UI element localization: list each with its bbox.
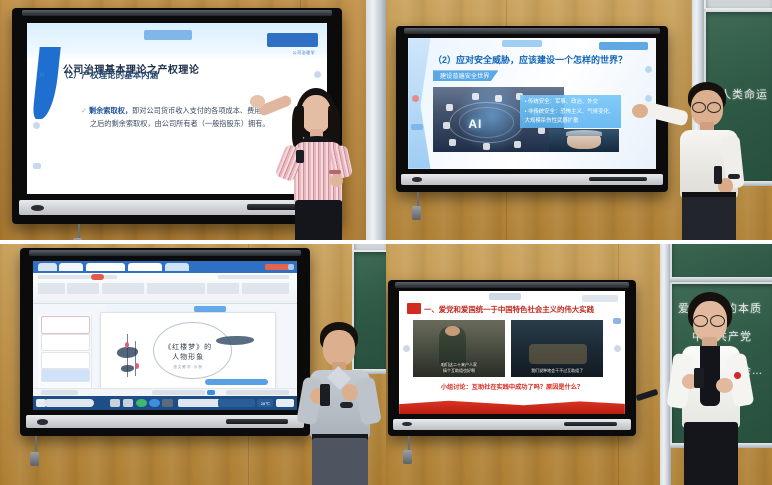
lamp-glow	[529, 344, 586, 363]
icon-node	[538, 127, 545, 134]
chalkboard-upper	[670, 244, 772, 280]
wristwatch	[340, 402, 353, 408]
account-badge[interactable]	[265, 264, 289, 270]
tool-group-3[interactable]	[102, 283, 144, 294]
slide-security-world: （2）应对安全威胁，应该建设一个怎样的世界？ 建设普遍安全世界 AI	[408, 38, 656, 169]
top-chip	[144, 30, 192, 40]
app-icon-blue[interactable]	[149, 399, 160, 407]
power-plug	[30, 452, 39, 466]
party-emblem-icon	[407, 303, 421, 314]
decorative-corner	[408, 38, 430, 169]
glasses-right-lens	[707, 102, 721, 113]
slide-title: 一、爱党和爱国统一于中国特色社会主义的伟大实践	[424, 304, 594, 315]
interactive-flat-panel[interactable]: 一、爱党和爱国统一于中国特色社会主义的伟大实践 咱们这二十来户人家 搞个互助组也…	[388, 280, 636, 436]
tool-group-2[interactable]	[67, 283, 99, 294]
power-plug	[412, 206, 421, 220]
display-screen[interactable]: 《红楼梦》的 人物形象 语文教学·示例	[33, 261, 297, 410]
page-indicator	[41, 390, 78, 394]
canvas-floating-toolbar[interactable]	[205, 379, 267, 384]
video-caption-right: 我们说种地会干不过互助组了	[511, 368, 604, 374]
tab-home[interactable]	[38, 263, 56, 271]
robot-skullcap	[566, 130, 602, 136]
presenter-female-1	[272, 88, 364, 240]
tray-icons[interactable]	[218, 399, 255, 407]
face	[301, 95, 331, 133]
ribbon-toolbar[interactable]	[33, 273, 297, 304]
slide-title: （2）应对安全威胁，应该建设一个怎样的世界？	[433, 53, 627, 66]
glasses-left-lens	[692, 102, 706, 113]
top-chip	[502, 40, 542, 47]
nav-chip-left[interactable]	[411, 124, 423, 130]
windows-taskbar[interactable]: 28℃	[33, 396, 297, 409]
photo-collage: 公司治理学 公司治理基本理论之产权理论 » （2）产权理论的基本内涵 ✓ 剩余索…	[0, 0, 772, 485]
tool-group-5[interactable]	[207, 283, 239, 294]
icon-node	[449, 139, 456, 146]
menu-row[interactable]	[38, 275, 117, 279]
zoom-slider[interactable]	[226, 390, 289, 394]
nav-chip-left[interactable]	[33, 163, 41, 169]
tool-group-4[interactable]	[147, 283, 205, 294]
presenter-remote	[320, 384, 330, 406]
presenter-female-2	[660, 292, 764, 485]
control-tray[interactable]	[26, 415, 304, 428]
body-line-2: 之后的剩余索取权，由公司所有者（一般指股东）拥有。	[90, 119, 270, 128]
taskbar-search-box[interactable]	[44, 399, 94, 408]
trousers	[312, 438, 368, 485]
glasses-right-lens	[710, 315, 725, 327]
nav-dot-left[interactable]	[33, 122, 40, 129]
highlighted-menu-item[interactable]	[91, 274, 104, 279]
slide-patriotism: 一、爱党和爱国统一于中国特色社会主义的伟大实践 咱们这二十来户人家 搞个互助组也…	[399, 291, 625, 414]
callout-line-3: 大规模杀伤性武器扩散	[525, 117, 616, 126]
thumbnail-1[interactable]	[41, 316, 89, 333]
presenter-male-1	[662, 82, 758, 240]
bullet-lead: 剩余索取权，	[89, 106, 132, 115]
app-icon-green[interactable]	[136, 399, 147, 407]
panel-bottom-right: 爱国主义的本质 中国共产党 不会… 一、爱党和爱国统一于中国特色社会主义的伟大实…	[386, 244, 772, 485]
interactive-flat-panel[interactable]: （2）应对安全威胁，应该建设一个怎样的世界？ 建设普遍安全世界 AI	[396, 26, 668, 192]
window-titlebar	[33, 261, 297, 273]
face	[323, 330, 355, 366]
tab-document-2[interactable]	[86, 263, 126, 271]
tab-document-3[interactable]	[128, 263, 162, 271]
speaker-bar	[404, 28, 660, 34]
presentation-view-button[interactable]	[207, 390, 215, 395]
slide-canvas[interactable]: 《红楼梦》的 人物形象 语文教学·示例	[100, 312, 276, 391]
icon-node	[483, 143, 490, 150]
icon-node	[443, 122, 450, 129]
ai-label: AI	[468, 117, 482, 131]
slide-section-heading: （2）产权理论的基本内涵	[60, 69, 158, 81]
trousers	[682, 194, 736, 240]
brand-badge	[582, 295, 618, 302]
nav-dot-right[interactable]	[314, 71, 321, 78]
discussion-prompt: 小组讨论：互助社在实践中成功了吗？原因是什么？	[399, 382, 625, 391]
microphone	[694, 368, 704, 388]
icon-node	[495, 95, 502, 102]
hand-pointing	[632, 104, 648, 118]
robot-portrait-image	[549, 129, 618, 151]
tray-temperature: 28℃	[257, 399, 273, 407]
hand-right-gesturing	[716, 378, 733, 393]
callout-line-2: • 非传统安全：恐怖主义、气候变化、	[525, 108, 616, 117]
video-caption-left: 咱们这二十来户人家 搞个互助组也好啊	[413, 362, 506, 374]
icon-node	[472, 93, 479, 100]
section-pill: 建设普遍安全世界	[433, 70, 499, 81]
display-screen[interactable]: 一、爱党和爱国统一于中国特色社会主义的伟大实践 咱们这二十来户人家 搞个互助组也…	[399, 291, 625, 414]
power-plug	[73, 238, 82, 240]
status-bar[interactable]	[33, 388, 297, 396]
thumbnail-3[interactable]	[41, 352, 89, 369]
search-and-share-row[interactable]	[218, 275, 289, 279]
brand-subtitle: 公司治理学	[293, 50, 316, 56]
chalkboard-top-trim	[704, 0, 772, 10]
video-thumbnail-left[interactable]: 咱们这二十来户人家 搞个互助组也好啊	[413, 320, 506, 377]
speaker-bar	[395, 282, 628, 288]
close-icon[interactable]	[288, 264, 295, 269]
tool-group-6[interactable]	[242, 283, 290, 294]
thumbnail-2[interactable]	[41, 334, 89, 351]
control-tray[interactable]	[401, 174, 662, 186]
nav-dot-left[interactable]	[403, 345, 410, 352]
brand-badge	[599, 42, 649, 51]
panel-top-right: 人类命运 （2）应对安全威胁，应该建设一个怎样的世界？ 建设普遍安全世界 AI	[386, 0, 772, 240]
dress-skirt	[684, 422, 738, 485]
brand-badge	[267, 33, 318, 47]
hand-right-raised	[342, 384, 358, 401]
tab-active[interactable]	[165, 263, 189, 271]
glasses-left-lens	[693, 315, 708, 327]
interactive-flat-panel[interactable]: 《红楼梦》的 人物形象 语文教学·示例	[20, 248, 310, 436]
top-chip	[489, 293, 521, 299]
body-line-1: 即对公司货币收入支付的各项成本、费用	[132, 106, 261, 115]
control-tray[interactable]	[393, 419, 631, 430]
belt	[682, 192, 736, 197]
nav-dot-right[interactable]	[614, 345, 621, 352]
display-screen[interactable]: （2）应对安全威胁，应该建设一个怎样的世界？ 建设普遍安全世界 AI	[408, 38, 656, 169]
taskview-icon[interactable]	[123, 399, 134, 407]
presenter-remote	[714, 166, 722, 184]
power-plug	[403, 450, 412, 464]
slide-thumbnail-pane[interactable]	[38, 315, 92, 392]
presentation-editor-window[interactable]: 《红楼梦》的 人物形象 语文教学·示例	[33, 261, 297, 410]
wristwatch	[728, 174, 740, 179]
callout-line-1: • 传统安全：军事、政治、外交	[525, 98, 616, 107]
skirt	[295, 200, 342, 240]
hand-pointing	[250, 95, 265, 108]
notification-icon[interactable]	[276, 399, 294, 407]
nav-dot-right-top[interactable]	[645, 66, 652, 73]
red-wave-banner	[399, 397, 625, 414]
ink-lotus-illustration	[112, 330, 150, 381]
panel-top-left: 公司治理学 公司治理基本理论之产权理论 » （2）产权理论的基本内涵 ✓ 剩余索…	[0, 0, 386, 240]
nav-chip-right[interactable]	[613, 318, 621, 324]
chevron-double-right-icon: »	[39, 69, 45, 81]
microphone	[296, 150, 304, 163]
icon-node	[446, 104, 453, 111]
presenter-male-2	[298, 322, 386, 485]
tool-group-1[interactable]	[38, 283, 64, 294]
icon-node	[514, 141, 521, 148]
chalkboard-top-trim	[352, 244, 386, 252]
panel-bottom-left: 《红楼梦》的 人物形象 语文教学·示例	[0, 244, 386, 485]
hand-right	[330, 174, 343, 187]
bracelet	[329, 170, 341, 174]
party-pin-icon	[734, 372, 741, 379]
speaker-bar	[22, 10, 332, 16]
door-frame	[366, 0, 386, 240]
tab-document-1[interactable]	[59, 263, 83, 271]
callout-box: • 传统安全：军事、政治、外交 • 非传统安全：恐怖主义、气候变化、 大规模杀伤…	[520, 95, 621, 128]
speaker-bar	[29, 250, 302, 256]
app-icon-grey[interactable]	[162, 399, 173, 407]
active-app-button[interactable]	[178, 399, 220, 407]
view-mode-buttons[interactable]	[152, 390, 205, 394]
thumbnail-4[interactable]	[41, 369, 89, 382]
settings-icon[interactable]	[110, 399, 121, 407]
video-thumbnail-right[interactable]: 我们说种地会干不过互助组了	[511, 320, 604, 377]
